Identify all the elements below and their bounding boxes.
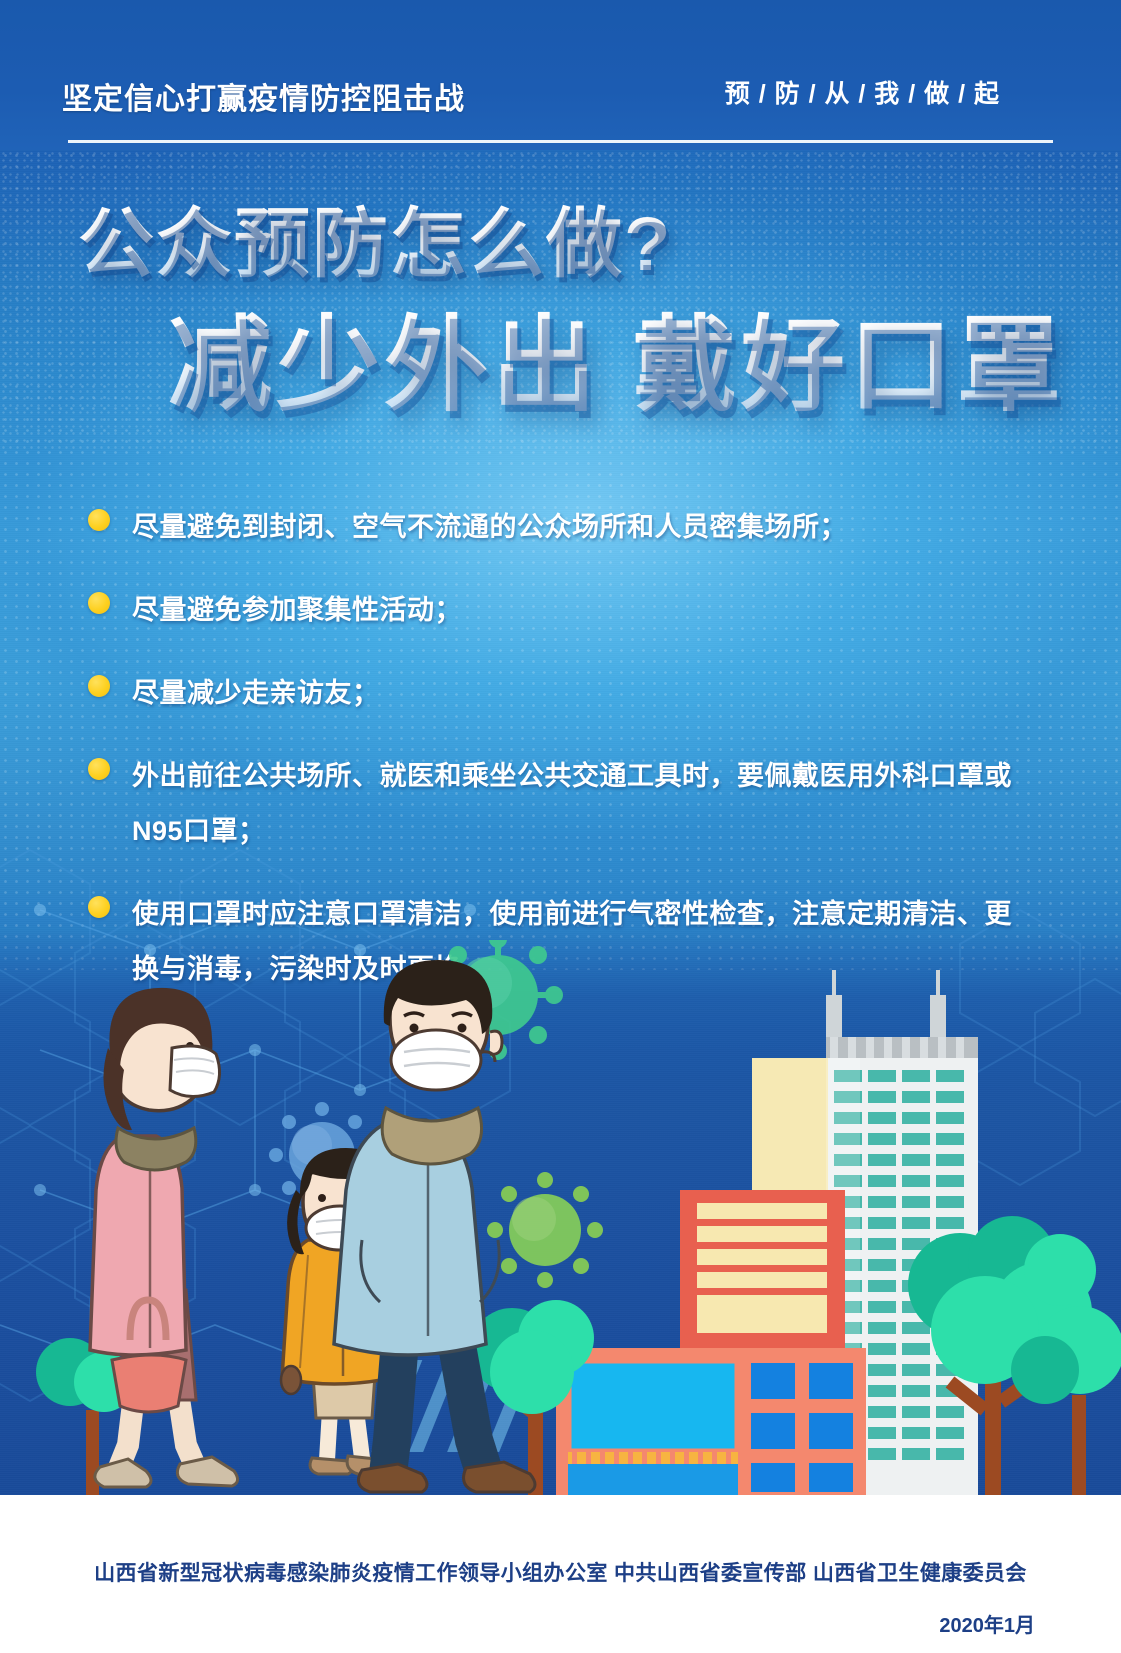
list-item-label: 外出前往公共场所、就医和乘坐公共交通工具时，要佩戴医用外科口罩或N95口罩；: [132, 749, 1038, 859]
bullet-dot-icon: [88, 509, 110, 531]
building-red-midrise: [680, 1190, 845, 1350]
list-item: 尽量减少走亲访友；: [88, 666, 1038, 721]
list-item-label: 尽量避免到封闭、空气不流通的公众场所和人员密集场所；: [132, 500, 1038, 555]
header-title: 坚定信心打赢疫情防控阻击战: [62, 74, 465, 118]
list-item-label: 尽量避免参加聚集性活动；: [132, 583, 1038, 638]
footer-date: 2020年1月: [939, 1609, 1035, 1638]
footer-organizations: 山西省新型冠状病毒感染肺炎疫情工作领导小组办公室 中共山西省委宣传部 山西省卫生…: [0, 1557, 1121, 1587]
virus-particle-green-low: [487, 1172, 603, 1288]
bullet-dot-icon: [88, 896, 110, 918]
list-item: 尽量避免参加聚集性活动；: [88, 583, 1038, 638]
hero-title-line2: 减少外出 戴好口罩: [168, 280, 1065, 431]
illustration-scene: [0, 940, 1121, 1495]
figure-mother-with-mask: [90, 988, 238, 1487]
list-item: 外出前往公共场所、就医和乘坐公共交通工具时，要佩戴医用外科口罩或N95口罩；: [88, 749, 1038, 859]
footer-bar: 山西省新型冠状病毒感染肺炎疫情工作领导小组办公室 中共山西省委宣传部 山西省卫生…: [0, 1495, 1121, 1653]
header-content: 坚定信心打赢疫情防控阻击战 预 / 防 / 从 / 我 / 做 / 起: [62, 74, 1062, 120]
hero-title-line1: 公众预防怎么做?: [78, 182, 672, 292]
bullet-dot-icon: [88, 758, 110, 780]
bullet-dot-icon: [88, 592, 110, 614]
header-divider-line: [68, 140, 1053, 143]
header-bar: 坚定信心打赢疫情防控阻击战 预 / 防 / 从 / 我 / 做 / 起: [0, 0, 1121, 150]
poster-root: 坚定信心打赢疫情防控阻击战 预 / 防 / 从 / 我 / 做 / 起 公众预防…: [0, 0, 1121, 1653]
header-slogan: 预 / 防 / 从 / 我 / 做 / 起: [725, 74, 1000, 110]
bullet-dot-icon: [88, 675, 110, 697]
list-item: 尽量避免到封闭、空气不流通的公众场所和人员密集场所；: [88, 500, 1038, 555]
list-item-label: 尽量减少走亲访友；: [132, 666, 1038, 721]
